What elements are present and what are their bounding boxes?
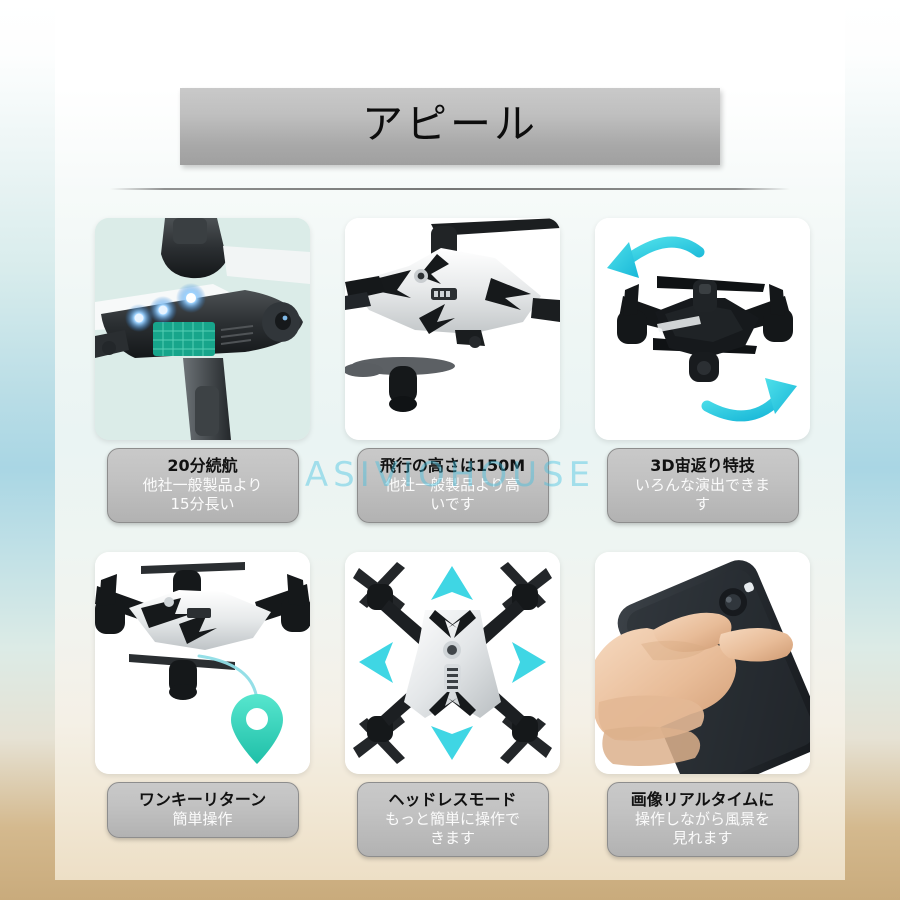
page-title: アピール (0, 88, 900, 165)
caption-box: 飛行の高さは150M 他社一般製品より高 いです (357, 448, 549, 523)
caption-box: ヘッドレスモード もっと簡単に操作で きます (357, 782, 549, 857)
title-banner: アピール (180, 88, 720, 165)
caption-subline-2: 見れます (614, 829, 792, 848)
drone-topdown-four-arrows-image (345, 552, 560, 774)
caption-heading: 3D宙返り特技 (614, 456, 792, 476)
feature-grid: 20分続航 他社一般製品より 15分長い (95, 218, 810, 863)
feature-card-3d-flip: 3D宙返り特技 いろんな演出できま す (595, 218, 810, 530)
white-drone-location-pin-image (95, 552, 310, 774)
caption-heading: 画像リアルタイムに (614, 790, 792, 810)
caption-subline-1: 他社一般製品より高 (364, 476, 542, 495)
caption-subline-2: いです (364, 495, 542, 514)
caption-subline-1: 操作しながら風景を (614, 810, 792, 829)
caption-heading: 20分続航 (114, 456, 292, 476)
feature-card-realtime-image: 画像リアルタイムに 操作しながら風景を 見れます (595, 552, 810, 864)
feature-card-flight-height: 飛行の高さは150M 他社一般製品より高 いです (345, 218, 560, 530)
feature-card-flight-time: 20分続航 他社一般製品より 15分長い (95, 218, 310, 530)
caption-subline-2: す (614, 495, 792, 514)
feature-card-one-key-return: ワンキーリターン 簡単操作 (95, 552, 310, 864)
caption-subline-1: 他社一般製品より (114, 476, 292, 495)
caption-subline-1: いろんな演出できま (614, 476, 792, 495)
caption-box: 20分続航 他社一般製品より 15分長い (107, 448, 299, 523)
feature-card-headless-mode: ヘッドレスモード もっと簡単に操作で きます (345, 552, 560, 864)
caption-heading: 飛行の高さは150M (364, 456, 542, 476)
caption-heading: ヘッドレスモード (364, 790, 542, 810)
title-text: アピール (362, 100, 538, 148)
black-drone-flip-arrows-image (595, 218, 810, 440)
drone-closeup-led-battery-image (95, 218, 310, 440)
product-feature-page: アピール (0, 0, 900, 900)
hand-holding-smartphone-image (595, 552, 810, 774)
caption-subline-2: 15分長い (114, 495, 292, 514)
caption-box: 3D宙返り特技 いろんな演出できま す (607, 448, 799, 523)
caption-subline-1: もっと簡単に操作で (364, 810, 542, 829)
caption-subline-1: 簡単操作 (114, 810, 292, 829)
title-divider (110, 188, 790, 190)
caption-subline-2: きます (364, 829, 542, 848)
white-drone-side-view-image (345, 218, 560, 440)
caption-heading: ワンキーリターン (114, 790, 292, 810)
caption-box: ワンキーリターン 簡単操作 (107, 782, 299, 838)
caption-box: 画像リアルタイムに 操作しながら風景を 見れます (607, 782, 799, 857)
